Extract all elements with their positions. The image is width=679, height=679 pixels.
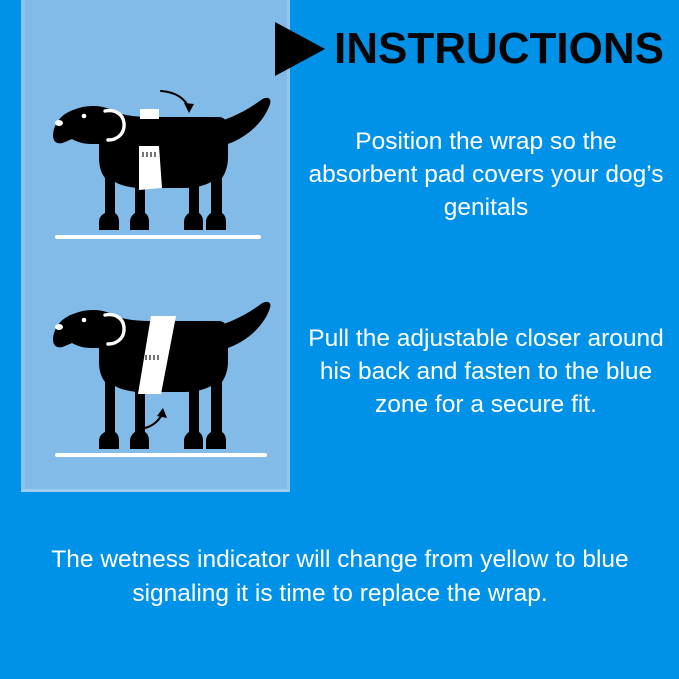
- dog-hind-leg: [184, 386, 203, 449]
- play-triangle-icon: [275, 22, 325, 76]
- instructions-infographic: INSTRUCTIONS Position the wrap so the ab…: [0, 0, 679, 679]
- page-title: INSTRUCTIONS: [334, 20, 664, 78]
- header: INSTRUCTIONS: [272, 20, 672, 80]
- curved-arrow-up-icon: [145, 408, 167, 428]
- dog-hind-leg: [184, 182, 203, 230]
- instruction-step-1-text: Position the wrap so the absorbent pad c…: [306, 125, 666, 224]
- dog-illustration-step-2: [21, 282, 290, 457]
- illustration-panel: [21, 0, 290, 492]
- dog-eye: [82, 114, 87, 119]
- dog-nose-highlight: [55, 324, 63, 330]
- dog-nose-highlight: [55, 120, 63, 126]
- dog-with-wrap-fastened-graphic: [39, 282, 279, 457]
- wetness-indicator-note: The wetness indicator will change from y…: [22, 543, 658, 611]
- curved-arrow-down-icon: [161, 91, 194, 113]
- dog-illustration-step-1: [21, 78, 290, 243]
- ground-line-2: [55, 453, 267, 457]
- wrap-back-tab: [140, 109, 159, 119]
- dog-with-wrap-positioned-graphic: [39, 78, 279, 238]
- instruction-step-2-text: Pull the adjustable closer around his ba…: [306, 322, 666, 421]
- dog-eye: [82, 318, 87, 323]
- ground-line-1: [55, 235, 261, 239]
